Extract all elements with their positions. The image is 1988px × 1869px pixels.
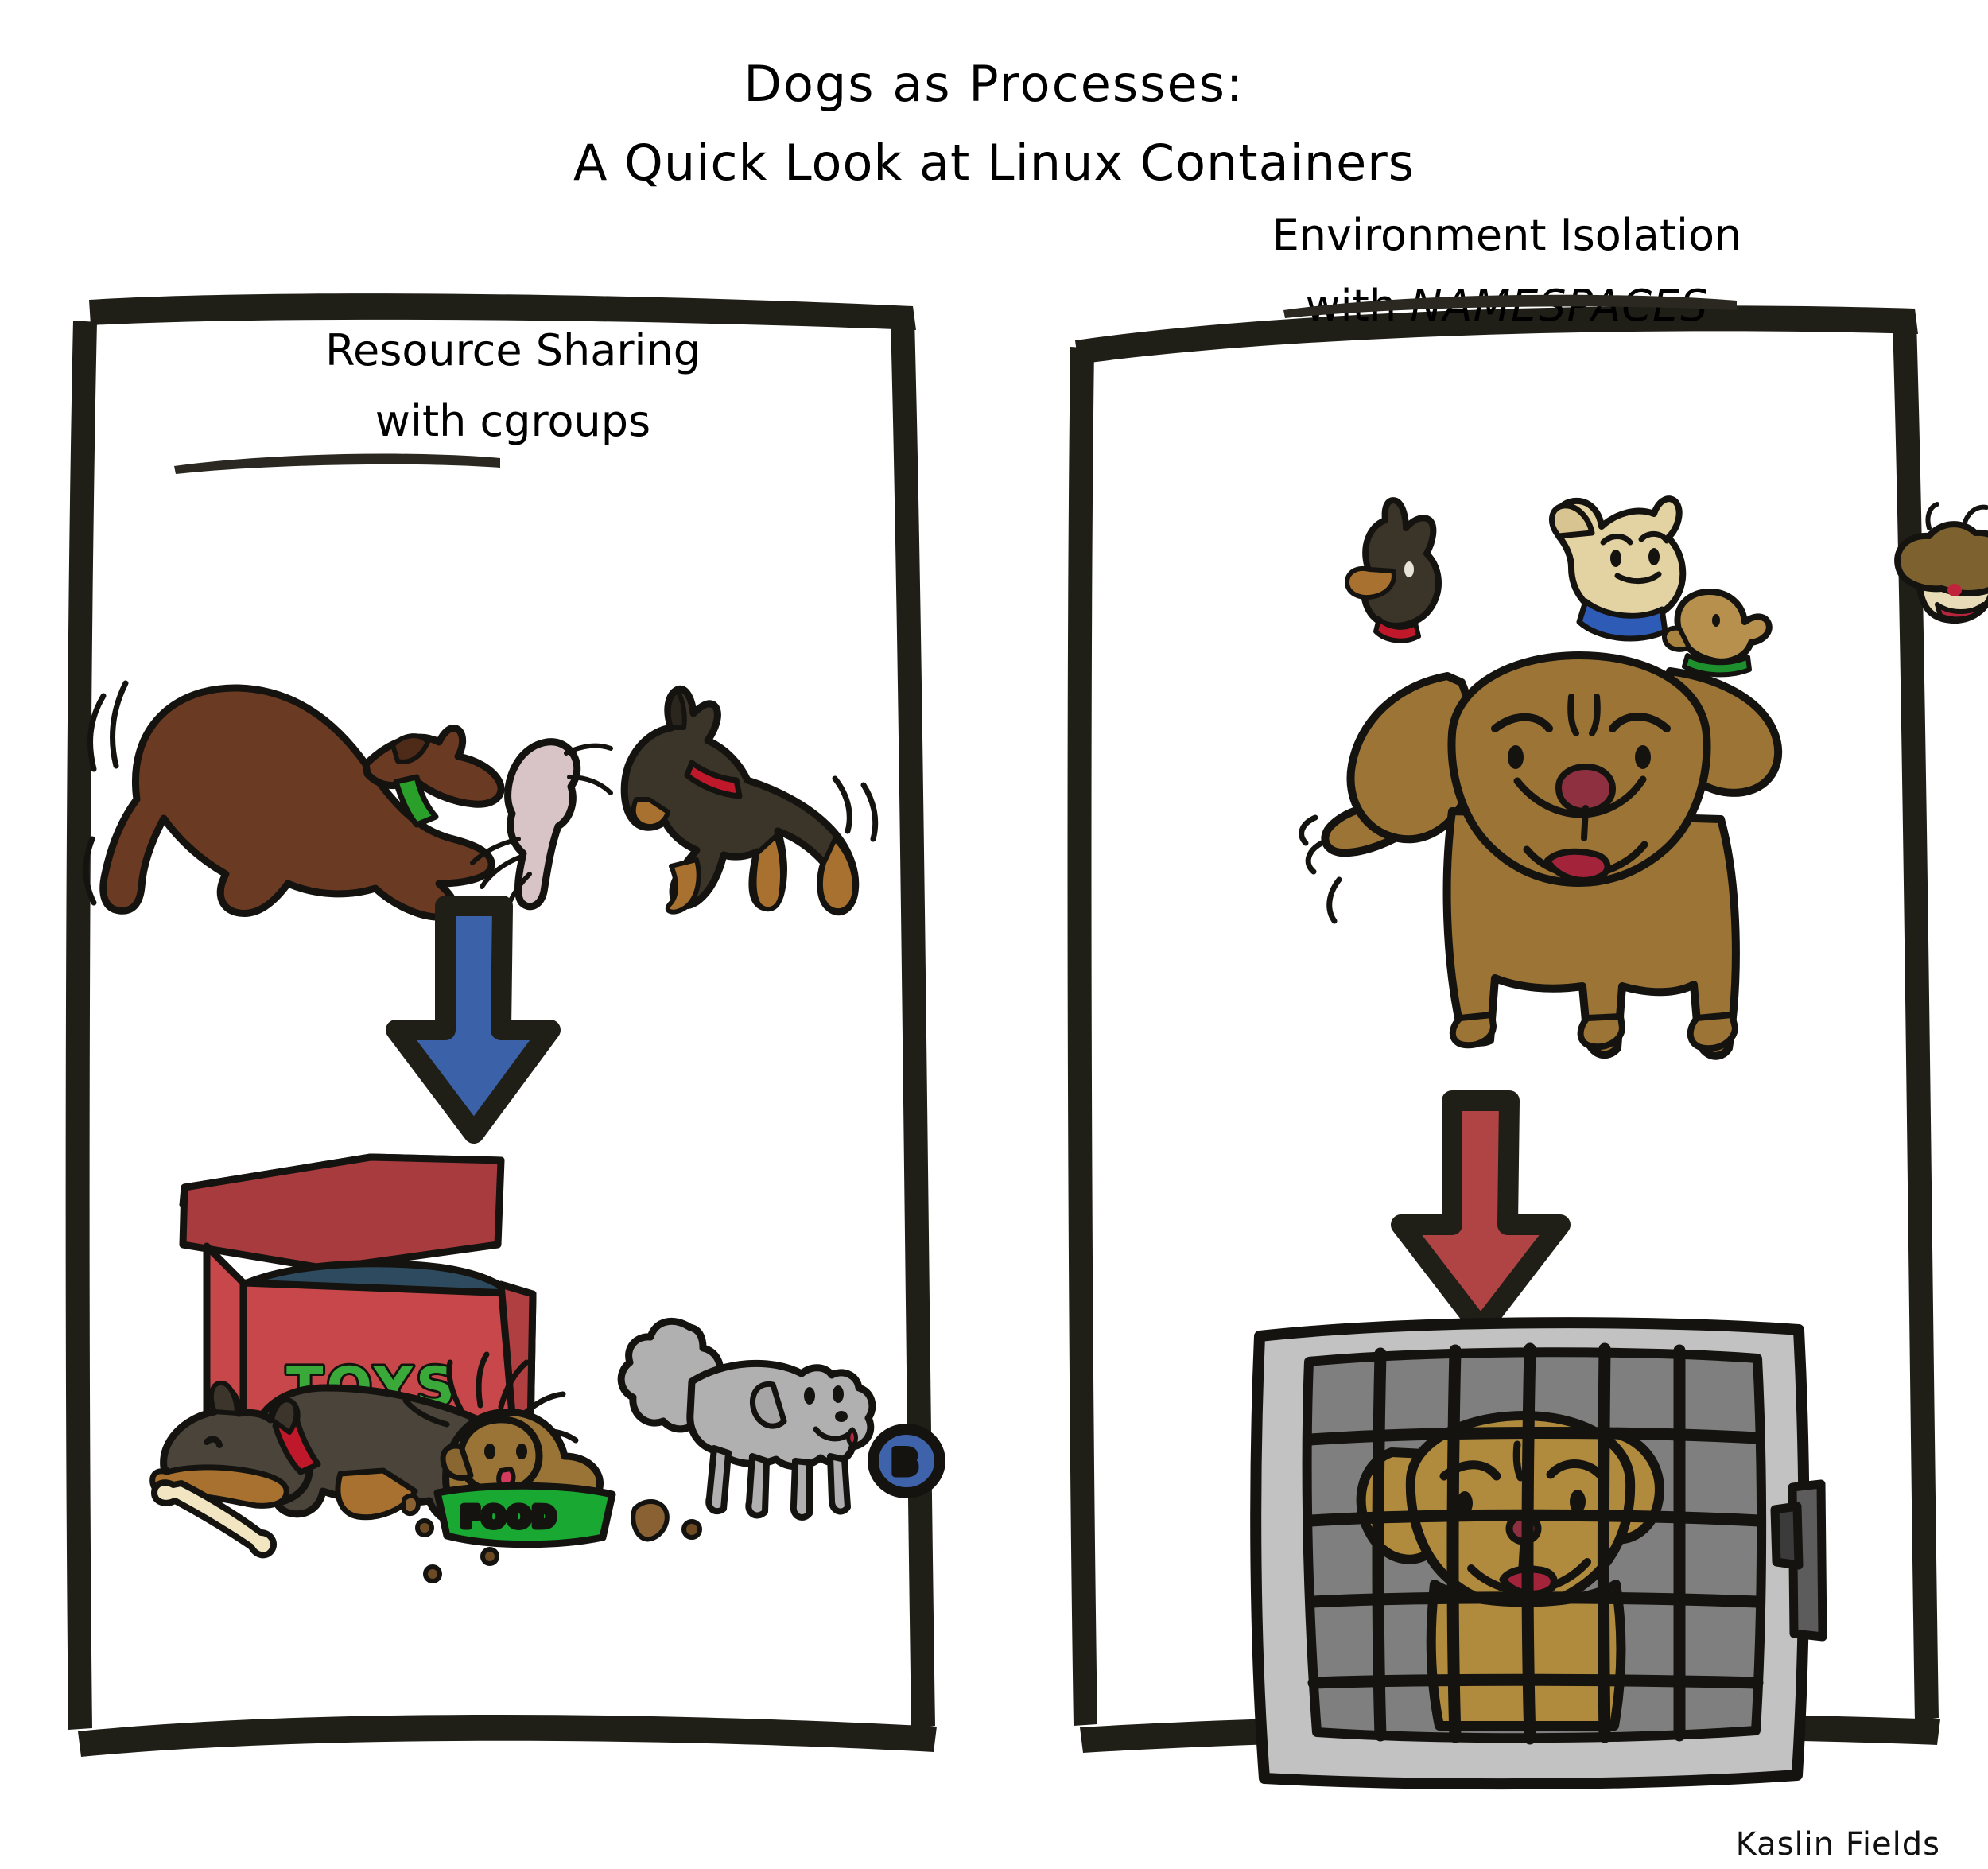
scene-tug-of-war (80, 600, 883, 934)
panel-namespaces: Environment Isolation with NAMESPACES (1058, 294, 1956, 1789)
artist-credit: Kaslin Fields (1736, 1826, 1940, 1863)
scene-big-brown-dog (1296, 644, 1869, 1090)
scene-crate (1241, 1312, 1829, 1805)
poodle (621, 1321, 872, 1517)
panel-cgroups: Resource Sharing with cgroups (32, 282, 994, 1785)
comic-title: Dogs as Processes: A Quick Look at Linux… (0, 56, 1988, 192)
scene-dog-faces (1312, 493, 1988, 660)
heading-underline-namespaces (1280, 286, 1741, 318)
dog-head-tan-large (1551, 499, 1683, 639)
blue-ball: B (873, 1429, 940, 1493)
down-arrow-red (1384, 1090, 1582, 1344)
title-line-2: A Quick Look at Linux Containers (0, 134, 1988, 191)
food-bowl-label: FOOD (461, 1502, 557, 1533)
blue-ball-label: B (892, 1443, 918, 1482)
comic-canvas: Dogs as Processes: A Quick Look at Linux… (0, 0, 1988, 1869)
down-arrow-blue (382, 895, 565, 1149)
dog-head-scruffy (1897, 504, 1988, 620)
scene-sharing-resources: TOYS (87, 1149, 954, 1690)
heading-line-1-namespaces: Environment Isolation (1058, 207, 1956, 265)
title-line-1: Dogs as Processes: (0, 56, 1988, 112)
dog-head-doberman (1347, 500, 1439, 641)
heading-underline-cgroups (171, 445, 505, 477)
